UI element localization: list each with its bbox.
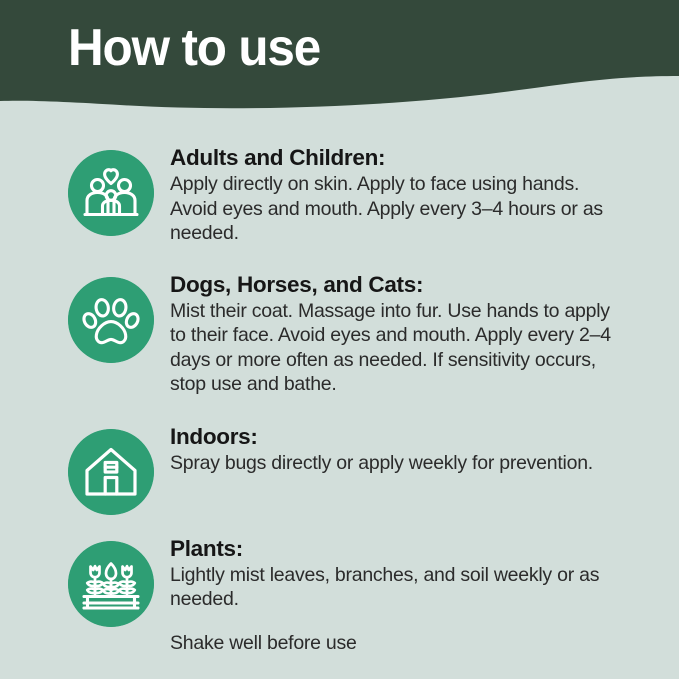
plants-icon-container bbox=[68, 541, 154, 627]
list-item-indoors: Indoors: Spray bugs directly or apply we… bbox=[0, 423, 679, 515]
shake-well-note: Shake well before use bbox=[170, 631, 661, 656]
paw-print-icon bbox=[68, 277, 154, 363]
family-icon bbox=[68, 150, 154, 236]
section-body: Apply directly on skin. Apply to face us… bbox=[170, 172, 625, 246]
section-heading: Adults and Children: bbox=[170, 144, 661, 171]
instructions-list: Adults and Children: Apply directly on s… bbox=[0, 122, 679, 655]
family-icon-container bbox=[68, 150, 154, 236]
section-body: Lightly mist leaves, branches, and soil … bbox=[170, 563, 625, 612]
list-item-adults-and-children: Adults and Children: Apply directly on s… bbox=[0, 144, 679, 246]
section-heading: Plants: bbox=[170, 535, 661, 562]
section-heading: Indoors: bbox=[170, 423, 661, 450]
indoors-text: Indoors: Spray bugs directly or apply we… bbox=[154, 423, 661, 476]
section-body: Mist their coat. Massage into fur. Use h… bbox=[170, 299, 625, 397]
list-item-plants: Plants: Lightly mist leaves, branches, a… bbox=[0, 535, 679, 656]
section-body: Spray bugs directly or apply weekly for … bbox=[170, 451, 625, 476]
section-heading: Dogs, Horses, and Cats: bbox=[170, 271, 661, 298]
dogs-horses-cats-text: Dogs, Horses, and Cats: Mist their coat.… bbox=[154, 271, 661, 397]
page-title: How to use bbox=[68, 18, 320, 78]
house-icon bbox=[68, 429, 154, 515]
adults-and-children-text: Adults and Children: Apply directly on s… bbox=[154, 144, 661, 246]
plants-icon bbox=[68, 541, 154, 627]
plants-text: Plants: Lightly mist leaves, branches, a… bbox=[154, 535, 661, 656]
house-icon-container bbox=[68, 429, 154, 515]
how-to-use-infographic: How to use bbox=[0, 0, 679, 679]
header-banner: How to use bbox=[0, 0, 679, 120]
list-item-dogs-horses-and-cats: Dogs, Horses, and Cats: Mist their coat.… bbox=[0, 271, 679, 397]
paw-print-icon-container bbox=[68, 277, 154, 363]
